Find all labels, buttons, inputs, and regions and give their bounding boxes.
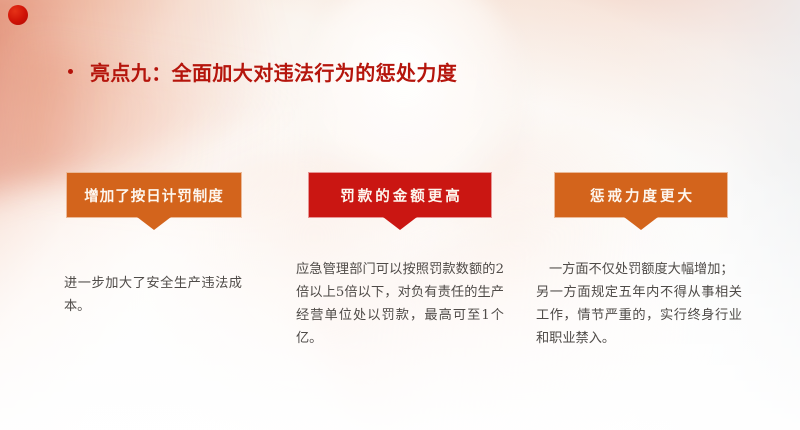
- banner-label-column-2: 罚款的金额更高: [309, 173, 491, 217]
- red-dot-decoration: [8, 5, 28, 25]
- body-text-column-1: 进一步加大了安全生产违法成本。: [64, 272, 242, 318]
- bullet-icon: [68, 69, 73, 74]
- banner-notch-icon: [137, 217, 171, 230]
- banner-notch-icon: [383, 217, 417, 230]
- body-paragraph: 应急管理部门可以按照罚款数额的2倍以上5倍以下，对负有责任的生产经营单位处以罚款…: [296, 258, 504, 350]
- banner-label-column-1: 增加了按日计罚制度: [67, 173, 241, 217]
- body-paragraph: 一方面不仅处罚额度大幅增加；: [536, 258, 742, 281]
- banner-column-2: 罚款的金额更高: [308, 172, 492, 218]
- body-paragraph: 另一方面规定五年内不得从事相关工作，情节严重的，实行终身行业和职业禁入。: [536, 281, 742, 350]
- banner-column-1: 增加了按日计罚制度: [66, 172, 242, 218]
- body-text-column-2: 应急管理部门可以按照罚款数额的2倍以上5倍以下，对负有责任的生产经营单位处以罚款…: [296, 258, 504, 350]
- banner-label-column-3: 惩戒力度更大: [555, 173, 727, 217]
- body-text-column-3: 一方面不仅处罚额度大幅增加； 另一方面规定五年内不得从事相关工作，情节严重的，实…: [536, 258, 742, 350]
- banner-column-3: 惩戒力度更大: [554, 172, 728, 218]
- page-title: 亮点九：全面加大对违法行为的惩处力度: [68, 57, 457, 86]
- body-paragraph: 进一步加大了安全生产违法成本。: [64, 272, 242, 318]
- page-title-text: 亮点九：全面加大对违法行为的惩处力度: [90, 57, 457, 86]
- banner-notch-icon: [624, 217, 658, 230]
- presentation-slide: 亮点九：全面加大对违法行为的惩处力度 增加了按日计罚制度 进一步加大了安全生产违…: [0, 0, 800, 430]
